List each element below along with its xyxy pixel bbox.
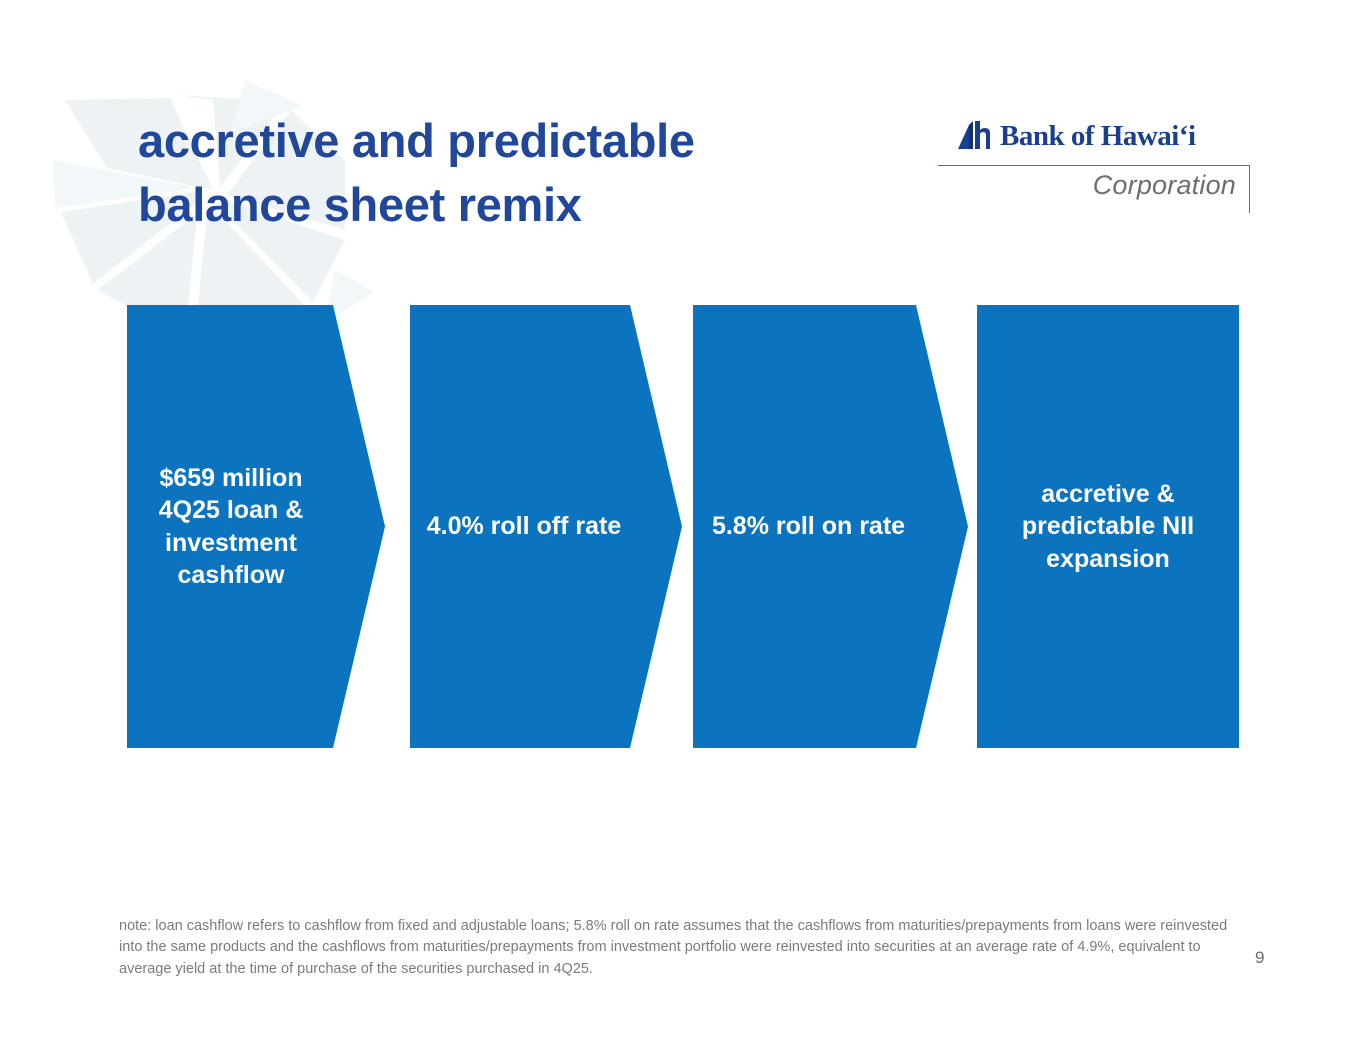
flow-step-3: 5.8% roll on rate [693, 305, 968, 748]
flow-step-1: $659 million 4Q25 loan & investment cash… [127, 305, 385, 748]
flow-step-1-line-2: 4Q25 loan & [159, 496, 304, 524]
logo-divider-horizontal [938, 165, 1250, 166]
footnote-text: note: loan cashflow refers to cashflow f… [119, 916, 1234, 980]
bank-of-hawaii-mark-icon [956, 121, 990, 151]
logo-subtitle: Corporation [1093, 170, 1236, 201]
flow-step-2-label: 4.0% roll off rate [410, 510, 638, 543]
flow-step-1-line-3: investment [165, 529, 297, 557]
flow-step-4: accretive & predictable NII expansion [977, 305, 1239, 748]
logo-wordmark: Bank of Hawaiʻi [1000, 120, 1196, 153]
flow-step-1-label: $659 million 4Q25 loan & investment cash… [131, 462, 331, 592]
page-number: 9 [1255, 948, 1264, 968]
flow-step-1-line-4: cashflow [178, 561, 285, 589]
flow-step-2: 4.0% roll off rate [410, 305, 682, 748]
flow-step-3-label: 5.8% roll on rate [693, 510, 924, 543]
flow-step-1-line-1: $659 million [159, 464, 302, 492]
page-title-line-2: balance sheet remix [138, 173, 918, 237]
flow-step-4-line-1: accretive & [1041, 480, 1174, 508]
page-title: accretive and predictable balance sheet … [138, 109, 918, 237]
flow-step-4-line-2: predictable NII [1022, 512, 1194, 540]
slide-canvas: accretive and predictable balance sheet … [0, 0, 1365, 1055]
process-flow: $659 million 4Q25 loan & investment cash… [127, 305, 1239, 748]
flow-step-4-label: accretive & predictable NII expansion [1001, 478, 1216, 576]
bank-of-hawaii-logo: Bank of Hawaiʻi Corporation [938, 112, 1250, 212]
logo-divider-vertical [1249, 165, 1250, 213]
logo-primary-row: Bank of Hawaiʻi [938, 112, 1250, 160]
flow-step-4-line-3: expansion [1046, 545, 1170, 573]
page-title-line-1: accretive and predictable [138, 109, 918, 173]
